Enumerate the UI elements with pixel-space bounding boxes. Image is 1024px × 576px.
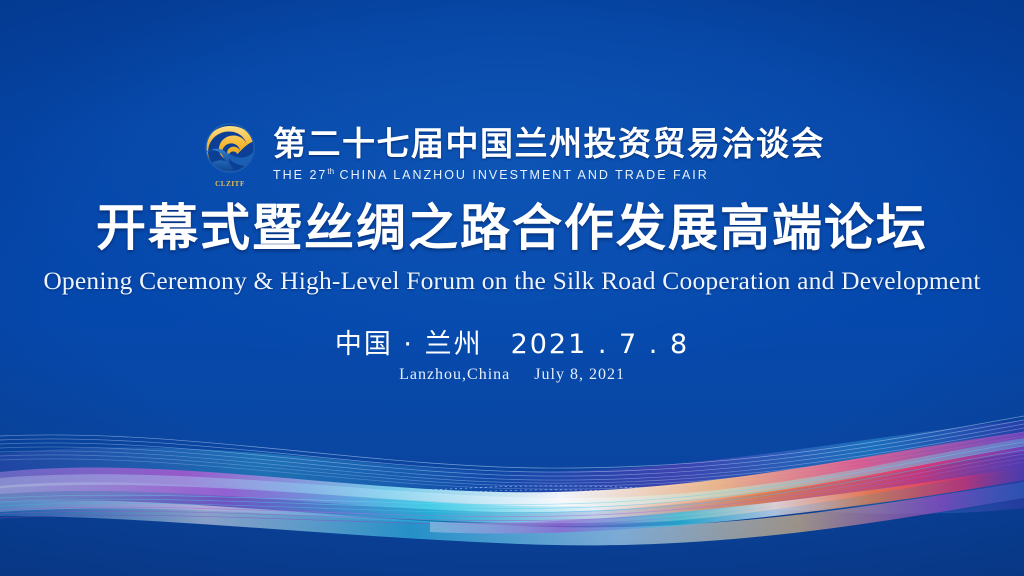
event-meta-block: 中国 · 兰州2021 . 7 . 8 Lanzhou,ChinaJuly 8,… [0,330,1024,383]
logo-wordmark: CLZITF [199,180,261,188]
headline-chinese: 开幕式暨丝绸之路合作发展高端论坛 [0,203,1024,253]
headline-english: Opening Ceremony & High-Level Forum on t… [0,268,1024,294]
event-poster: CLZITF 第二十七届中国兰州投资贸易洽谈会 THE 27th CHINA L… [0,0,1024,576]
fair-branding-lockup: CLZITF 第二十七届中国兰州投资贸易洽谈会 THE 27th CHINA L… [0,122,1024,188]
event-date-english: July 8, 2021 [534,366,625,383]
event-meta-english: Lanzhou,ChinaJuly 8, 2021 [0,366,1024,384]
fair-name-english: THE 27th CHINA LANZHOU INVESTMENT AND TR… [273,167,825,182]
fair-name-en-prefix: THE 27 [273,168,327,182]
clzitf-logo-icon: CLZITF [199,122,261,188]
fair-name-en-suffix: CHINA LANZHOU INVESTMENT AND TRADE FAIR [334,168,709,182]
fair-name-group: 第二十七届中国兰州投资贸易洽谈会 THE 27th CHINA LANZHOU … [273,128,825,181]
event-city-chinese: 中国 · 兰州 [335,329,483,360]
event-city-english: Lanzhou,China [399,366,510,383]
fair-name-chinese: 第二十七届中国兰州投资贸易洽谈会 [273,128,825,162]
event-meta-chinese: 中国 · 兰州2021 . 7 . 8 [0,330,1024,360]
event-date-chinese: 2021 . 7 . 8 [511,329,690,360]
